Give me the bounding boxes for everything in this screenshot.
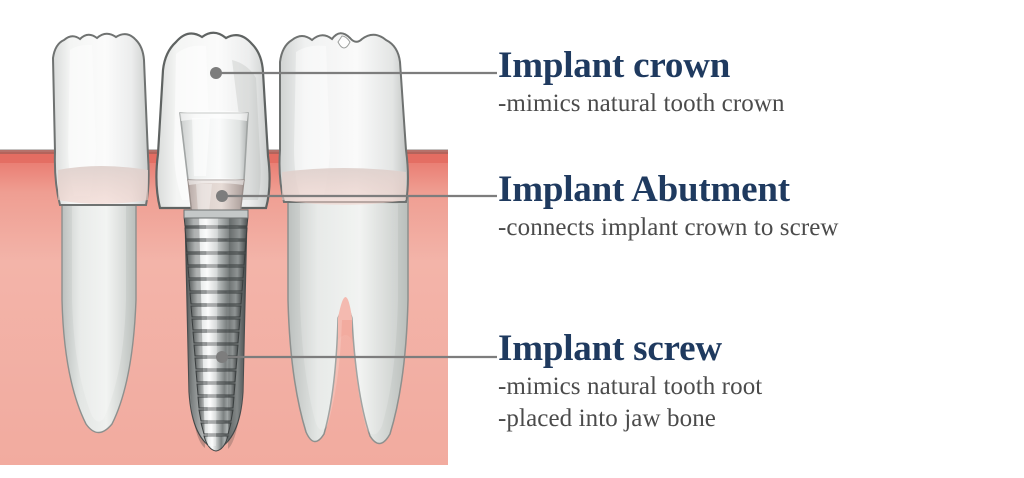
label-block-implant-abutment: Implant Abutment -connects implant crown… xyxy=(498,171,839,244)
label-bullet: -mimics natural tooth crown xyxy=(498,88,785,120)
dental-implant-illustration xyxy=(0,0,510,478)
label-bullets-implant-abutment: -connects implant crown to screw xyxy=(498,212,839,244)
label-heading-implant-screw: Implant screw xyxy=(498,330,762,367)
label-bullet: -placed into jaw bone xyxy=(498,403,762,435)
implant-abutment-shape xyxy=(180,111,248,216)
implant-screw-shape xyxy=(184,210,248,451)
label-bullet: -mimics natural tooth root xyxy=(498,371,762,403)
label-heading-implant-crown: Implant crown xyxy=(498,47,785,84)
label-block-implant-screw: Implant screw -mimics natural tooth root… xyxy=(498,330,762,435)
label-block-implant-crown: Implant crown -mimics natural tooth crow… xyxy=(498,47,785,120)
label-bullets-implant-screw: -mimics natural tooth root -placed into … xyxy=(498,371,762,435)
label-column: Implant crown -mimics natural tooth crow… xyxy=(498,0,1024,478)
label-heading-implant-abutment: Implant Abutment xyxy=(498,171,839,208)
label-bullets-implant-crown: -mimics natural tooth crown xyxy=(498,88,785,120)
label-bullet: -connects implant crown to screw xyxy=(498,212,839,244)
implant-diagram-page: Implant crown -mimics natural tooth crow… xyxy=(0,0,1024,478)
